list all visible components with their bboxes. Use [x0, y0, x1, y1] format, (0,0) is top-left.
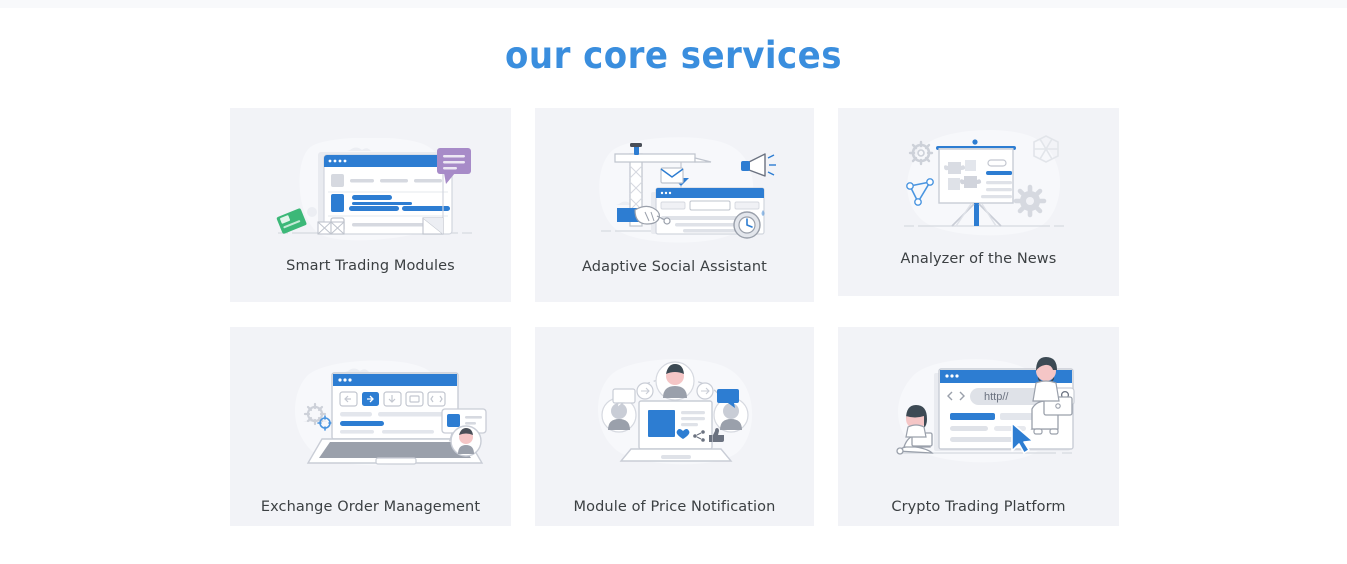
green-tag-icon [276, 208, 307, 234]
avatar-icon-top [656, 362, 694, 400]
service-card-label: Smart Trading Modules [230, 258, 511, 274]
browser-url-people-illustration: http// [838, 347, 1119, 475]
crane-lifting-window-illustration [535, 136, 814, 251]
service-card-adaptive-social-assistant[interactable]: Adaptive Social Assistant [535, 108, 814, 302]
service-card-smart-trading-modules[interactable]: Smart Trading Modules [230, 108, 511, 302]
service-card-analyzer-of-the-news[interactable]: Analyzer of the News [838, 108, 1119, 296]
service-card-label: Crypto Trading Platform [838, 499, 1119, 515]
connection-node-right [697, 383, 713, 399]
section-title: our core services [54, 36, 1293, 77]
service-card-crypto-trading-platform[interactable]: http// [838, 327, 1119, 526]
service-card-module-of-price-notification[interactable]: Module of Price Notification [535, 327, 814, 526]
avatar-icon [451, 426, 481, 456]
presentation-board-illustration [838, 126, 1119, 244]
url-bar-text: http// [984, 391, 1009, 403]
service-card-label: Module of Price Notification [535, 499, 814, 515]
social-network-laptop-illustration [535, 353, 814, 473]
laptop-toolbar-illustration [230, 359, 511, 477]
service-card-label: Analyzer of the News [838, 251, 1119, 267]
service-card-label: Exchange Order Management [230, 499, 511, 515]
clock-icon [734, 212, 760, 238]
service-card-exchange-order-management[interactable]: Exchange Order Management [230, 327, 511, 526]
service-card-label: Adaptive Social Assistant [535, 259, 814, 275]
connection-node-left [637, 383, 653, 399]
core-services-section: our core services [0, 0, 1347, 564]
dashboard-window-illustration [230, 138, 511, 248]
envelope-icon [661, 168, 683, 183]
gear-icon-right [1016, 187, 1044, 215]
toolbar-icons [340, 392, 445, 406]
